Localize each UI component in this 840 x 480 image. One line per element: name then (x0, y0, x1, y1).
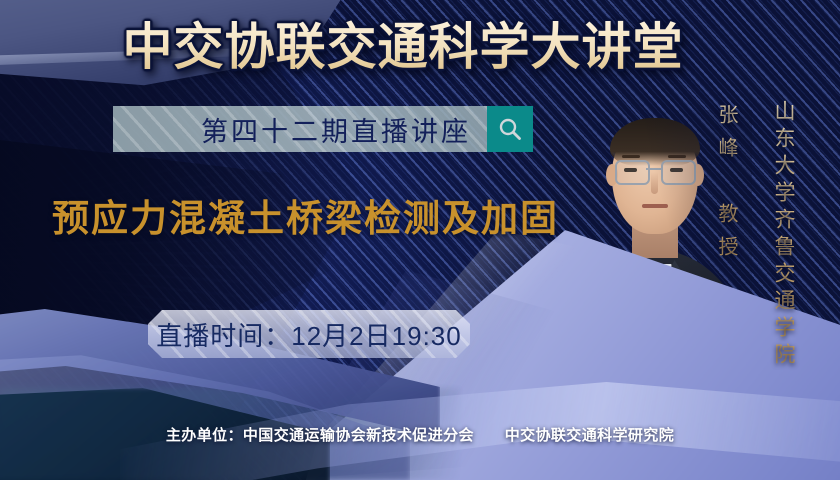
lecture-title: 预应力混凝土桥梁检测及加固 (52, 188, 559, 242)
speaker-affiliation: 山东大学齐鲁交通学院 (768, 100, 798, 370)
broadcast-time-banner: 直播时间：12月2日19:30 (148, 310, 470, 358)
search-icon (497, 116, 523, 142)
episode-subtitle-label: 第四十二期直播讲座 (201, 110, 487, 149)
broadcast-time-text: 直播时间：12月2日19:30 (156, 316, 461, 353)
search-button[interactable] (487, 106, 533, 152)
speaker-name-title: 张峰 教授 (712, 104, 741, 269)
page-title: 中交协联交通科学大讲堂 (118, 14, 688, 80)
episode-subtitle-band: 第四十二期直播讲座 (113, 106, 487, 152)
livestream-poster: 中交协联交通科学大讲堂 第四十二期直播讲座 预应力混凝土桥梁检测及加固 直播时间… (0, 0, 840, 480)
episode-subtitle-bar: 第四十二期直播讲座 (113, 106, 533, 152)
organizer-footer: 主办单位：中国交通运输协会新技术促进分会 中交协联交通科学研究院 (0, 424, 840, 445)
